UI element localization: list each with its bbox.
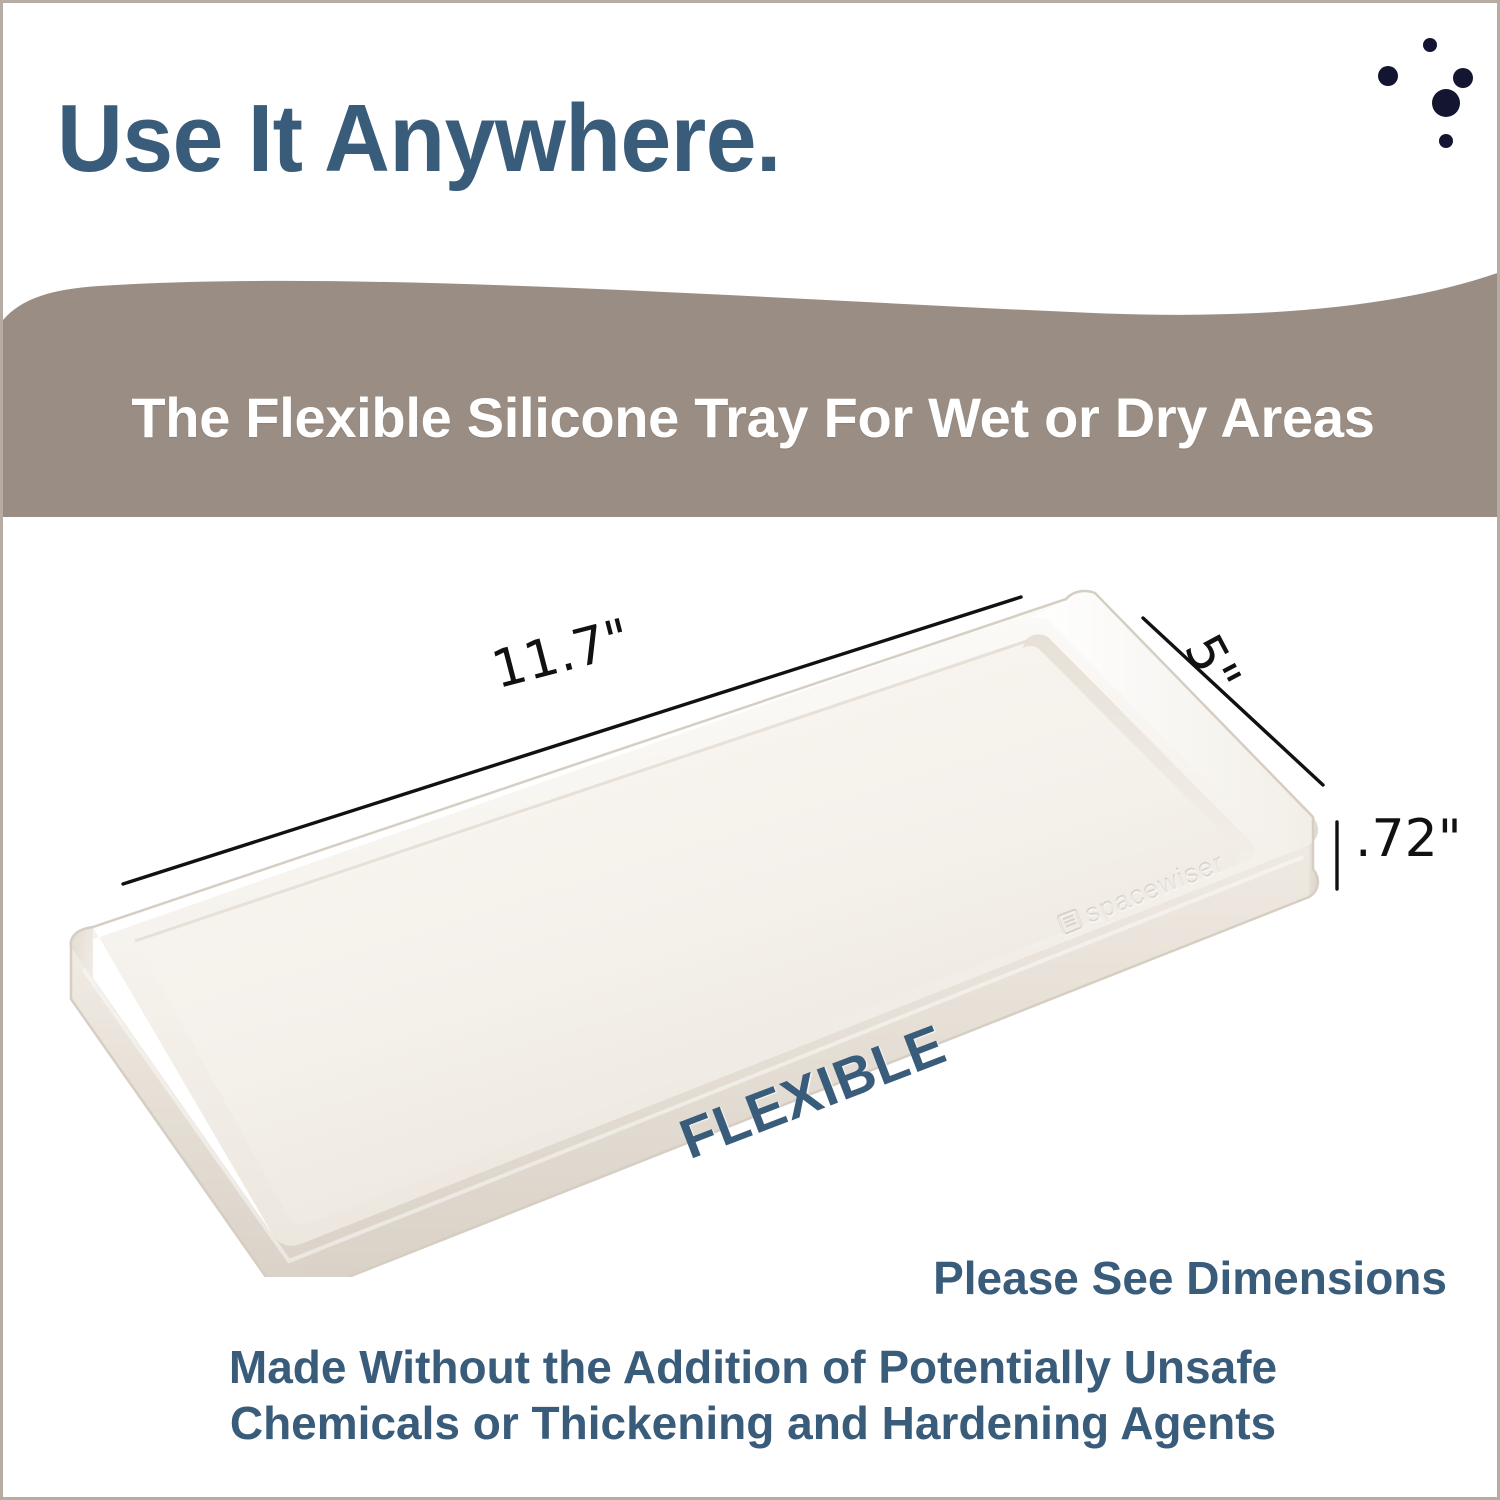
subtitle-banner: The Flexible Silicone Tray For Wet or Dr…	[3, 265, 1500, 517]
decorative-dot	[1453, 68, 1473, 88]
page-headline: Use It Anywhere.	[57, 91, 781, 187]
safety-claim-line-1: Made Without the Addition of Potentially…	[3, 1339, 1500, 1395]
dimension-label-height: .72"	[1355, 809, 1462, 869]
safety-claim-block: Made Without the Addition of Potentially…	[3, 1339, 1500, 1451]
decorative-dot	[1439, 134, 1453, 148]
decorative-dot	[1423, 38, 1437, 52]
safety-claim-line-2: Chemicals or Thickening and Hardening Ag…	[3, 1395, 1500, 1451]
decorative-dot	[1432, 89, 1460, 117]
decorative-dots-cluster	[1353, 23, 1493, 163]
decorative-dot	[1378, 66, 1398, 86]
silicone-tray-illustration: spacewiser spacewiser	[3, 517, 1500, 1277]
banner-subtitle: The Flexible Silicone Tray For Wet or Dr…	[3, 265, 1500, 517]
product-infographic-page: Use It Anywhere. The Flexible Silicone T…	[0, 0, 1500, 1500]
product-stage: spacewiser spacewiser	[3, 517, 1500, 1277]
please-see-dimensions-note: Please See Dimensions	[933, 1251, 1447, 1305]
